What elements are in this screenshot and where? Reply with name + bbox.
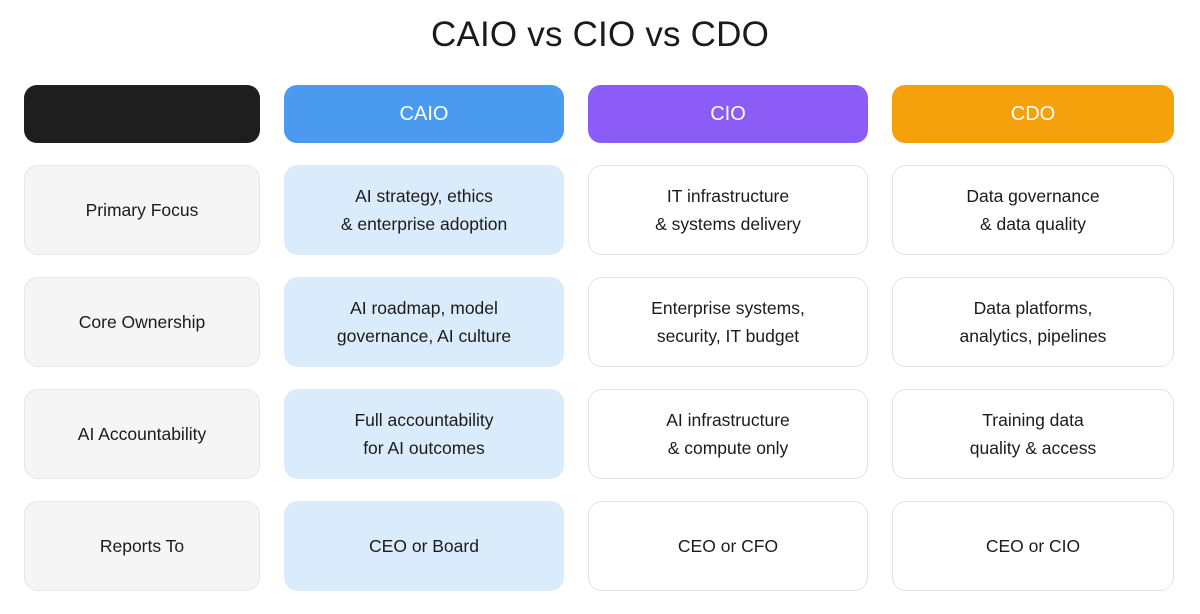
row-label-text: Core Ownership xyxy=(79,308,205,336)
header-cell-cio[interactable]: CIO xyxy=(588,85,868,143)
header-label-caio: CAIO xyxy=(400,100,449,128)
header-cell-caio[interactable]: CAIO xyxy=(284,85,564,143)
row-label-text: AI Accountability xyxy=(78,420,206,448)
cell-cio: Enterprise systems, security, IT budget xyxy=(588,277,868,367)
cell-caio: AI strategy, ethics & enterprise adoptio… xyxy=(284,165,564,255)
row-label-text: Reports To xyxy=(100,532,184,560)
header-label-cio: CIO xyxy=(710,100,746,128)
comparison-grid: CAIO CIO CDO Primary Focus AI strategy, … xyxy=(24,85,1176,591)
cell-caio-text: Full accountability for AI outcomes xyxy=(354,406,493,462)
cell-caio: CEO or Board xyxy=(284,501,564,591)
cell-cio-text: AI infrastructure & compute only xyxy=(666,406,790,462)
cell-cdo-text: CEO or CIO xyxy=(986,532,1080,560)
header-label-cdo: CDO xyxy=(1011,100,1055,128)
cell-cdo: Data governance & data quality xyxy=(892,165,1174,255)
table-row: Core Ownership AI roadmap, model governa… xyxy=(24,277,1176,367)
cell-caio-text: CEO or Board xyxy=(369,532,479,560)
row-label-cell: Primary Focus xyxy=(24,165,260,255)
page-title: CAIO vs CIO vs CDO xyxy=(0,14,1200,56)
header-cell-cdo[interactable]: CDO xyxy=(892,85,1174,143)
cell-cdo-text: Data governance & data quality xyxy=(966,182,1099,238)
cell-cio: CEO or CFO xyxy=(588,501,868,591)
comparison-table-page: CAIO vs CIO vs CDO CAIO CIO CDO Primary … xyxy=(0,0,1200,614)
cell-cio-text: IT infrastructure & systems delivery xyxy=(655,182,801,238)
row-label-cell: Core Ownership xyxy=(24,277,260,367)
cell-cdo: CEO or CIO xyxy=(892,501,1174,591)
cell-caio: Full accountability for AI outcomes xyxy=(284,389,564,479)
cell-cdo: Training data quality & access xyxy=(892,389,1174,479)
cell-caio: AI roadmap, model governance, AI culture xyxy=(284,277,564,367)
row-label-cell: AI Accountability xyxy=(24,389,260,479)
table-row: AI Accountability Full accountability fo… xyxy=(24,389,1176,479)
cell-cio: AI infrastructure & compute only xyxy=(588,389,868,479)
table-row: Reports To CEO or Board CEO or CFO CEO o… xyxy=(24,501,1176,591)
cell-cio-text: Enterprise systems, security, IT budget xyxy=(651,294,805,350)
cell-caio-text: AI roadmap, model governance, AI culture xyxy=(337,294,511,350)
table-row: Primary Focus AI strategy, ethics & ente… xyxy=(24,165,1176,255)
cell-cdo: Data platforms, analytics, pipelines xyxy=(892,277,1174,367)
cell-caio-text: AI strategy, ethics & enterprise adoptio… xyxy=(341,182,507,238)
cell-cdo-text: Training data quality & access xyxy=(970,406,1096,462)
cell-cio: IT infrastructure & systems delivery xyxy=(588,165,868,255)
cell-cdo-text: Data platforms, analytics, pipelines xyxy=(960,294,1107,350)
table-header-row: CAIO CIO CDO xyxy=(24,85,1176,143)
header-cell-blank xyxy=(24,85,260,143)
row-label-cell: Reports To xyxy=(24,501,260,591)
row-label-text: Primary Focus xyxy=(86,196,199,224)
cell-cio-text: CEO or CFO xyxy=(678,532,778,560)
